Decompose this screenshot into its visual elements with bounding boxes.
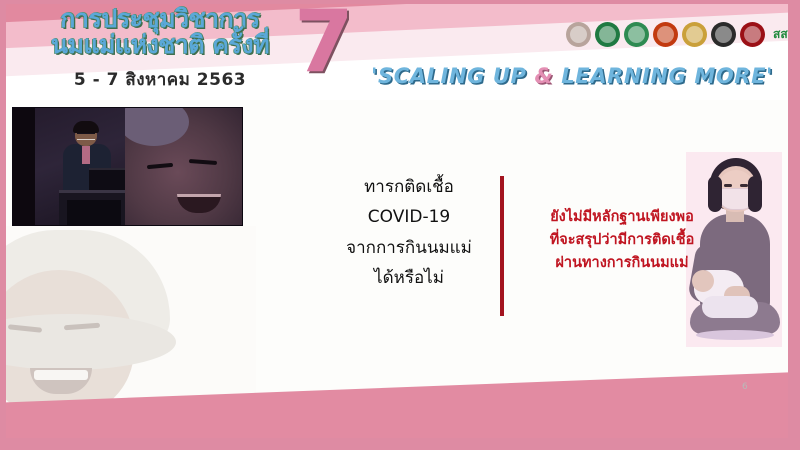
video-baby-hat [125, 108, 189, 146]
question-line-4: ได้หรือไม่ [324, 263, 494, 293]
logo-green-medical-1-icon [595, 22, 620, 47]
video-speaker-hair [73, 121, 99, 133]
conference-title-line1: การประชุมวิชาการ [20, 6, 300, 32]
logo-gold-emblem-icon [682, 22, 707, 47]
conference-date: 5 - 7 สิงหาคม 2563 [20, 66, 300, 93]
logo-black-emblem-icon [711, 22, 736, 47]
video-speaker-tie [82, 146, 90, 164]
tagline-suffix: LEARNING MORE' [553, 64, 773, 88]
video-tile-speaker[interactable] [12, 107, 243, 226]
tagline-prefix: 'SCALING UP [371, 64, 535, 88]
question-line-2: COVID-19 [324, 202, 494, 232]
video-baby-overlay [125, 108, 242, 225]
question-line-3: จากการกินนมแม่ [324, 233, 494, 263]
illustration-hair-right [748, 176, 762, 212]
logo-orange-emblem-icon [653, 22, 678, 47]
conference-edition-number: 7 [294, 4, 354, 92]
illustration-mother-eye-right [740, 184, 748, 187]
tagline-ampersand: & [534, 64, 553, 88]
screen: การประชุมวิชาการ นมแม่แห่งชาติ ครั้งที่ … [0, 0, 800, 450]
illustration-lap-cloth [702, 296, 758, 318]
illustration-ground-shadow [696, 330, 774, 340]
slide-banner: การประชุมวิชาการ นมแม่แห่งชาติ ครั้งที่ … [6, 4, 788, 100]
conference-title: การประชุมวิชาการ นมแม่แห่งชาติ ครั้งที่ [20, 6, 300, 58]
video-podium-front [67, 200, 121, 225]
logo-green-medical-2-icon [624, 22, 649, 47]
logo-royal-seal-icon [566, 22, 591, 47]
video-dark-curtain [13, 108, 35, 225]
video-baby-eye-right [189, 159, 217, 165]
photo-child-teeth [34, 370, 88, 380]
slide-body: การประชุมวิชาการ นมแม่แห่งชาติ ครั้งที่ … [6, 4, 788, 438]
answer-line-3: ผ่านทางการกินนมแม่ [506, 252, 738, 275]
conference-title-line2: นมแม่แห่งชาติ ครั้งที่ [20, 32, 300, 58]
answer-line-1: ยังไม่มีหลักฐานเพียงพอ [506, 206, 738, 229]
video-speaker-glasses [77, 133, 95, 140]
illustration-mother-eye-left [724, 184, 732, 187]
vertical-divider [500, 176, 504, 316]
logo-red-emblem-icon [740, 22, 765, 47]
answer-text: ยังไม่มีหลักฐานเพียงพอ ที่จะสรุปว่ามีการ… [506, 206, 738, 276]
slide-frame: การประชุมวิชาการ นมแม่แห่งชาติ ครั้งที่ … [0, 0, 800, 450]
logo-thaihealth-icon: สสส [769, 22, 788, 47]
sponsor-logo-row: สสส [566, 22, 788, 47]
video-baby-mouth [177, 194, 221, 213]
conference-tagline: 'SCALING UP & LEARNING MORE' [362, 64, 782, 88]
question-text: ทารกติดเชื้อ COVID-19 จากการกินนมแม่ ได้… [324, 172, 494, 293]
page-number: 6 [742, 382, 748, 392]
answer-line-2: ที่จะสรุปว่ามีการติดเชื้อ [506, 229, 738, 252]
video-baby-eye-left [147, 163, 173, 169]
question-line-1: ทารกติดเชื้อ [324, 172, 494, 202]
